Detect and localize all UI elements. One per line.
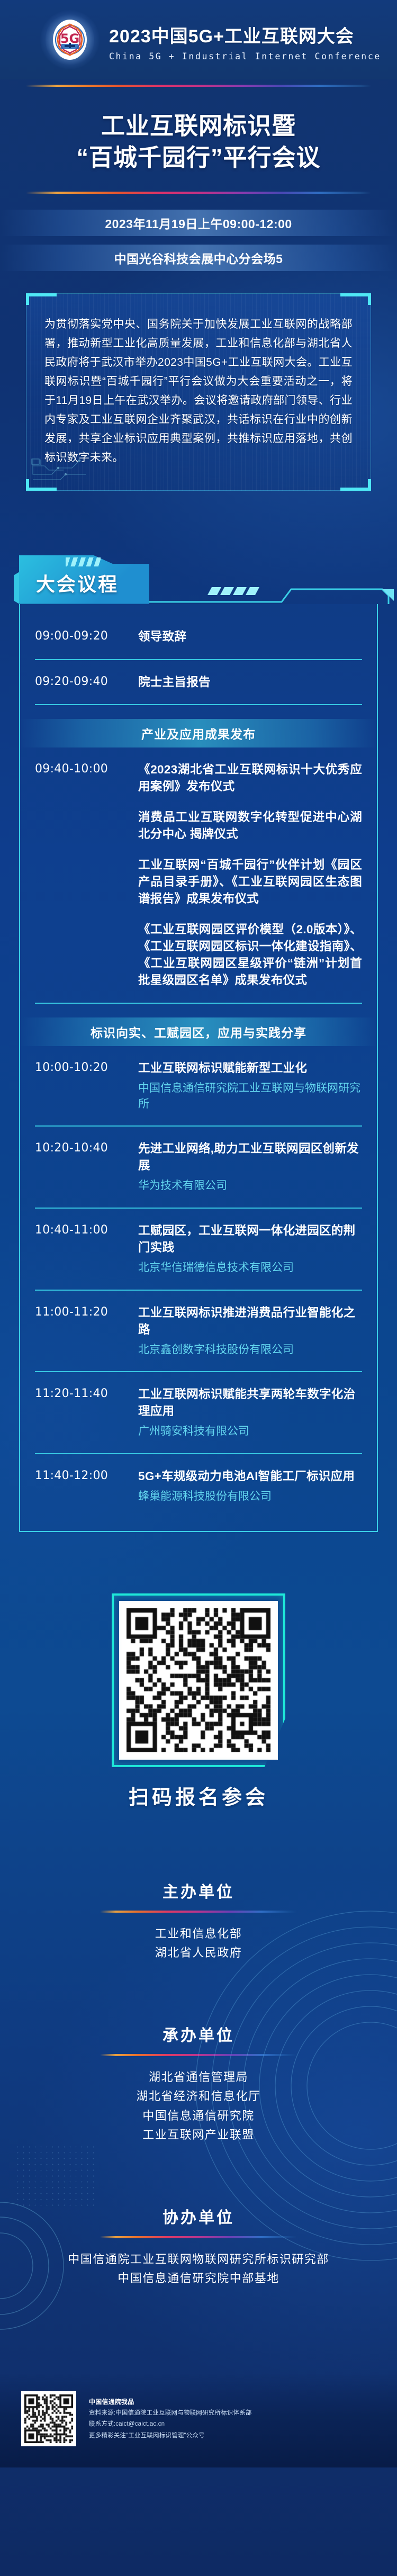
agenda-row-body: 工业互联网标识赋能新型工业化中国信息通信研究院工业互联网与物联网研究所 [138, 1060, 362, 1112]
agenda-row-time: 10:40-11:00 [35, 1222, 128, 1237]
organizer-block: 承办单位湖北省通信管理局湖北省经济和信息化厅中国信息通信研究院工业互联网产业联盟 [0, 2022, 397, 2145]
headline-line-1: 工业互联网标识暨 [0, 110, 397, 142]
agenda-item-title: 《工业互联网园区评价模型（2.0版本）》、《工业互联网园区标识一体化建设指南》、… [138, 921, 362, 989]
intro-section: 为贯彻落实党中央、国务院关于加快发展工业互联网的战略部署，推动新型工业化高质量发… [26, 293, 371, 491]
agenda-row-time: 11:40-12:00 [35, 1468, 128, 1482]
agenda-item-title: 5G+车规级动力电池AI智能工厂标识应用 [138, 1468, 362, 1485]
agenda-row: 11:00-11:20工业互联网标识推进消费品行业智能化之路北京鑫创数字科技股份… [20, 1304, 377, 1358]
agenda-row-body: 先进工业网络,助力工业互联网园区创新发展华为技术有限公司 [138, 1140, 362, 1194]
organizer-title: 承办单位 [0, 2022, 397, 2046]
footer-line-3: 联系方式:caict@caict.ac.cn [89, 2419, 252, 2430]
agenda-row-divider [35, 1290, 362, 1291]
registration-qr-code[interactable] [119, 1601, 278, 1760]
agenda-row: 10:40-11:00工赋园区，工业互联网一体化进园区的荆门实践北京华信瑞德信息… [20, 1222, 377, 1276]
intro-paragraph: 为贯彻落实党中央、国务院关于加快发展工业互联网的战略部署，推动新型工业化高质量发… [44, 315, 353, 468]
organizer-item: 中国信息通信研究院 [0, 2106, 397, 2126]
footer-line-2: 资料来源:中国信通院工业互联网与物联网研究所标识体系部 [89, 2408, 252, 2419]
agenda-item-title: 《2023湖北省工业互联网标识十大优秀应用案例》发布仪式 [138, 761, 362, 795]
agenda-section-label: 产业及应用成果发布 [141, 724, 256, 742]
qr-frame-glow-icon [112, 1593, 285, 1767]
agenda-item-org: 中国信息通信研究院工业互联网与物联网研究所 [138, 1080, 362, 1112]
poster-footer: 中国信通院我品 资料来源:中国信通院工业互联网与物联网研究所标识体系部 联系方式… [0, 2373, 397, 2467]
organizer-list: 工业和信息化部湖北省人民政府 [0, 1924, 397, 1963]
agenda-item-title: 领导致辞 [138, 628, 362, 645]
agenda-row-body: 工赋园区，工业互联网一体化进园区的荆门实践北京华信瑞德信息技术有限公司 [138, 1222, 362, 1276]
agenda-row-divider [35, 1371, 362, 1372]
headline-line-2: “百城千园行”平行会议 [0, 142, 397, 174]
agenda-item-title: 院士主旨报告 [138, 674, 362, 691]
conference-title-cn: 2023中国5G+工业互联网大会 [109, 22, 381, 48]
organizers-section: 主办单位工业和信息化部湖北省人民政府承办单位湖北省通信管理局湖北省经济和信息化厅… [0, 1879, 397, 2289]
footer-line-1: 中国信通院我品 [89, 2396, 252, 2408]
agenda-section-header: 标识向实、工赋园区，应用与实践分享 [20, 1017, 377, 1046]
agenda-row-time: 11:00-11:20 [35, 1304, 128, 1319]
agenda-row-time: 09:40-10:00 [35, 761, 128, 776]
footer-text: 中国信通院我品 资料来源:中国信通院工业互联网与物联网研究所标识体系部 联系方式… [89, 2396, 252, 2442]
organizer-divider [100, 2054, 297, 2056]
agenda-row-blocks: 《2023湖北省工业互联网标识十大优秀应用案例》发布仪式消费品工业互联网数字化转… [138, 761, 362, 988]
agenda-row-time: 09:20-09:40 [35, 674, 128, 688]
intro-box: 为贯彻落实党中央、国务院关于加快发展工业互联网的战略部署，推动新型工业化高质量发… [26, 293, 371, 491]
agenda-row: 11:20-11:40工业互联网标识赋能共享两轮车数字化治理应用广州骑安科技有限… [20, 1386, 377, 1439]
agenda-row-divider [35, 1208, 362, 1209]
agenda-row: 10:20-10:40先进工业网络,助力工业互联网园区创新发展华为技术有限公司 [20, 1140, 377, 1194]
agenda-sub-item: 《工业互联网园区评价模型（2.0版本）》、《工业互联网园区标识一体化建设指南》、… [138, 921, 362, 989]
agenda-item-title: 工业互联网“百城千园行”伙伴计划《园区产品目录手册》、《工业互联网园区生态图谱报… [138, 857, 362, 907]
organizer-item: 工业和信息化部 [0, 1924, 397, 1944]
organizer-list: 湖北省通信管理局湖北省经济和信息化厅中国信息通信研究院工业互联网产业联盟 [0, 2068, 397, 2145]
agenda-row: 09:00-09:20领导致辞 [20, 628, 377, 645]
agenda-row-divider [35, 1125, 362, 1127]
organizer-divider [100, 2236, 297, 2238]
qr-code-icon [24, 2394, 73, 2443]
agenda-row-time: 09:00-09:20 [35, 628, 128, 643]
agenda-row-divider [35, 659, 362, 660]
agenda-tag-label: 大会议程 [36, 569, 119, 597]
agenda-item-org: 广州骑安科技有限公司 [138, 1424, 362, 1439]
event-datetime-text: 2023年11月19日上午09:00-12:00 [105, 214, 292, 232]
agenda-item-title: 工业互联网标识赋能新型工业化 [138, 1060, 362, 1077]
event-venue-text: 中国光谷科技会展中心分会场5 [114, 249, 283, 267]
organizer-title: 主办单位 [0, 1879, 397, 1902]
agenda-row-body: 领导致辞 [138, 628, 362, 645]
agenda-header-bar [149, 586, 394, 604]
agenda-card: 09:00-09:20领导致辞09:20-09:40院士主旨报告产业及应用成果发… [19, 604, 378, 1532]
organizer-item: 湖北省通信管理局 [0, 2068, 397, 2087]
agenda-row-divider [35, 1003, 362, 1004]
corner-bracket-bottom-right-icon [340, 479, 371, 491]
footer-line-4: 更多精彩关注“工业互联网标识管理”公众号 [89, 2430, 252, 2442]
corner-bracket-top-right-icon [340, 293, 371, 305]
agenda-item-title: 工业互联网标识推进消费品行业智能化之路 [138, 1304, 362, 1338]
corner-bracket-top-left-icon [26, 293, 57, 305]
agenda-section-header: 产业及应用成果发布 [20, 719, 377, 747]
agenda-sub-item: 消费品工业互联网数字化转型促进中心湖北分中心 揭牌仪式 [138, 809, 362, 843]
organizer-item: 工业互联网产业联盟 [0, 2125, 397, 2145]
agenda-item-org: 北京鑫创数字科技股份有限公司 [138, 1342, 362, 1358]
agenda-item-title: 消费品工业互联网数字化转型促进中心湖北分中心 揭牌仪式 [138, 809, 362, 843]
agenda-item-org: 北京华信瑞德信息技术有限公司 [138, 1260, 362, 1276]
organizer-item: 中国信通院工业互联网物联网研究所标识研究部 [0, 2250, 397, 2269]
event-venue: 中国光谷科技会展中心分会场5 [0, 245, 397, 271]
agenda-stripes-icon [66, 557, 101, 566]
agenda-row-body: 院士主旨报告 [138, 674, 362, 691]
agenda-row-body: 工业互联网标识推进消费品行业智能化之路北京鑫创数字科技股份有限公司 [138, 1304, 362, 1358]
circuit-trace-icon [31, 458, 110, 487]
agenda-item-title: 工赋园区，工业互联网一体化进园区的荆门实践 [138, 1222, 362, 1256]
agenda-item-title: 工业互联网标识赋能共享两轮车数字化治理应用 [138, 1386, 362, 1420]
agenda-row-body: 《2023湖北省工业互联网标识十大优秀应用案例》发布仪式消费品工业互联网数字化转… [138, 761, 362, 988]
agenda-row: 11:40-12:005G+车规级动力电池AI智能工厂标识应用蜂巢能源科技股份有… [20, 1468, 377, 1505]
agenda-item-org: 华为技术有限公司 [138, 1178, 362, 1194]
agenda-row-time: 11:20-11:40 [35, 1386, 128, 1400]
agenda-row-divider [35, 704, 362, 705]
conference-title-en: China 5G + Industrial Internet Conferenc… [109, 51, 381, 61]
conference-emblem-icon: 5G [40, 10, 100, 69]
event-datetime: 2023年11月19日上午09:00-12:00 [0, 210, 397, 236]
gradient-divider-mid [0, 192, 397, 194]
agenda-row-time: 10:00-10:20 [35, 1060, 128, 1074]
gradient-divider-top [0, 85, 397, 87]
agenda-row: 09:40-10:00《2023湖北省工业互联网标识十大优秀应用案例》发布仪式消… [20, 761, 377, 988]
footer-qr-code[interactable] [21, 2391, 76, 2446]
organizer-block: 协办单位中国信通院工业互联网物联网研究所标识研究部中国信息通信研究院中部基地 [0, 2204, 397, 2289]
organizer-block: 主办单位工业和信息化部湖北省人民政府 [0, 1879, 397, 1963]
organizer-title: 协办单位 [0, 2204, 397, 2228]
poster-header: 5G 2023中国5G+工业互联网大会 China 5G + Industria… [0, 0, 397, 79]
agenda-item-title: 先进工业网络,助力工业互联网园区创新发展 [138, 1140, 362, 1174]
agenda-row-body: 5G+车规级动力电池AI智能工厂标识应用蜂巢能源科技股份有限公司 [138, 1468, 362, 1505]
organizer-list: 中国信通院工业互联网物联网研究所标识研究部中国信息通信研究院中部基地 [0, 2250, 397, 2289]
organizer-divider [100, 1911, 297, 1913]
agenda-header: 大会议程 [19, 553, 378, 604]
agenda-sub-item: 工业互联网“百城千园行”伙伴计划《园区产品目录手册》、《工业互联网园区生态图谱报… [138, 857, 362, 907]
agenda-item-org: 蜂巢能源科技股份有限公司 [138, 1489, 362, 1505]
agenda-sub-item: 《2023湖北省工业互联网标识十大优秀应用案例》发布仪式 [138, 761, 362, 795]
conference-poster: 5G 2023中国5G+工业互联网大会 China 5G + Industria… [0, 0, 397, 2576]
registration-caption: 扫码报名参会 [0, 1781, 397, 1810]
agenda-section-label: 标识向实、工赋园区，应用与实践分享 [91, 1023, 306, 1041]
registration-section: 扫码报名参会 [0, 1601, 397, 1810]
agenda-tag-edge-icon [14, 572, 19, 604]
organizer-item: 湖北省人民政府 [0, 1943, 397, 1963]
agenda-section: 大会议程 09:00-09:20领导致辞09:20-09:40院士主旨报告产业及… [0, 553, 397, 1532]
agenda-rows: 09:00-09:20领导致辞09:20-09:40院士主旨报告产业及应用成果发… [20, 628, 377, 1505]
organizer-item: 中国信息通信研究院中部基地 [0, 2269, 397, 2289]
page-title: 工业互联网标识暨 “百城千园行”平行会议 [0, 110, 397, 174]
agenda-row: 09:20-09:40院士主旨报告 [20, 674, 377, 691]
agenda-row: 10:00-10:20工业互联网标识赋能新型工业化中国信息通信研究院工业互联网与… [20, 1060, 377, 1112]
agenda-row-divider [35, 1453, 362, 1454]
agenda-row-body: 工业互联网标识赋能共享两轮车数字化治理应用广州骑安科技有限公司 [138, 1386, 362, 1439]
agenda-row-time: 10:20-10:40 [35, 1140, 128, 1155]
organizer-item: 湖北省经济和信息化厅 [0, 2087, 397, 2106]
